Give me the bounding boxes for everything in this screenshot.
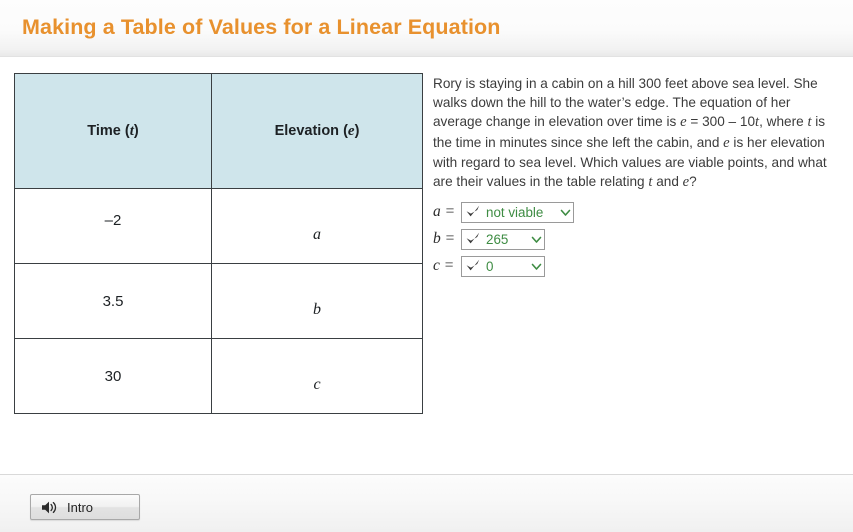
cell-time-2: 3.5 xyxy=(15,264,212,339)
answer-row-b: b = 265 xyxy=(433,226,829,252)
cell-time-3-value: 30 xyxy=(105,368,122,385)
cell-elevation-1: a xyxy=(212,189,423,264)
column-header-elevation: Elevation (e) xyxy=(212,74,423,189)
chevron-down-icon[interactable] xyxy=(531,234,542,245)
question-text-part2: , where xyxy=(759,114,807,129)
cell-elevation-2-value: b xyxy=(313,301,321,319)
answer-value-b: 265 xyxy=(481,232,529,247)
cell-time-1: –2 xyxy=(15,189,212,264)
answer-row-a: a = not viable xyxy=(433,199,829,225)
cell-time-3: 30 xyxy=(15,339,212,414)
question-eq-body: = 300 – 10 xyxy=(687,114,755,129)
question-text-part6: ? xyxy=(689,174,697,189)
answer-label-b: b = xyxy=(433,230,461,248)
title-bar: Making a Table of Values for a Linear Eq… xyxy=(0,0,853,57)
speaker-icon xyxy=(41,500,58,515)
check-icon xyxy=(465,258,481,274)
chevron-down-icon[interactable] xyxy=(560,207,571,218)
main-content: Time (t) Elevation (e) –2 a 3.5 b 30 c R… xyxy=(0,57,853,474)
page-title: Making a Table of Values for a Linear Eq… xyxy=(22,15,501,40)
answer-dropdown-b[interactable]: 265 xyxy=(461,229,545,250)
check-icon xyxy=(465,204,481,220)
check-icon xyxy=(465,231,481,247)
answer-value-c: 0 xyxy=(481,259,529,274)
cell-elevation-3-value: c xyxy=(313,376,320,394)
answer-dropdown-a[interactable]: not viable xyxy=(461,202,574,223)
answer-label-a: a = xyxy=(433,203,461,221)
answer-list: a = not viable b = xyxy=(433,199,829,279)
table-row: 3.5 b xyxy=(15,264,423,339)
column-header-time: Time (t) xyxy=(15,74,212,189)
column-header-time-variable: t xyxy=(130,123,134,139)
column-header-time-label: Time xyxy=(87,123,121,139)
cell-time-2-value: 3.5 xyxy=(103,293,124,310)
question-text: Rory is staying in a cabin on a hill 300… xyxy=(433,74,829,192)
cell-time-1-value: –2 xyxy=(105,212,122,229)
column-header-elevation-variable: e xyxy=(348,123,355,139)
cell-elevation-3: c xyxy=(212,339,423,414)
answer-dropdown-c[interactable]: 0 xyxy=(461,256,545,277)
answer-value-a: not viable xyxy=(481,205,558,220)
intro-audio-button[interactable]: Intro xyxy=(30,494,140,520)
values-table: Time (t) Elevation (e) –2 a 3.5 b 30 c xyxy=(14,73,423,414)
cell-elevation-1-value: a xyxy=(313,226,321,244)
cell-elevation-2: b xyxy=(212,264,423,339)
answer-label-c: c = xyxy=(433,257,461,275)
table-row: 30 c xyxy=(15,339,423,414)
table-header-row: Time (t) Elevation (e) xyxy=(15,74,423,189)
column-header-elevation-label: Elevation xyxy=(275,123,339,139)
question-panel: Rory is staying in a cabin on a hill 300… xyxy=(433,74,829,280)
table-row: –2 a xyxy=(15,189,423,264)
intro-button-label: Intro xyxy=(67,500,93,515)
footer-bar: Intro xyxy=(0,474,853,532)
chevron-down-icon[interactable] xyxy=(531,261,542,272)
question-text-part5: and xyxy=(652,174,682,189)
answer-row-c: c = 0 xyxy=(433,253,829,279)
